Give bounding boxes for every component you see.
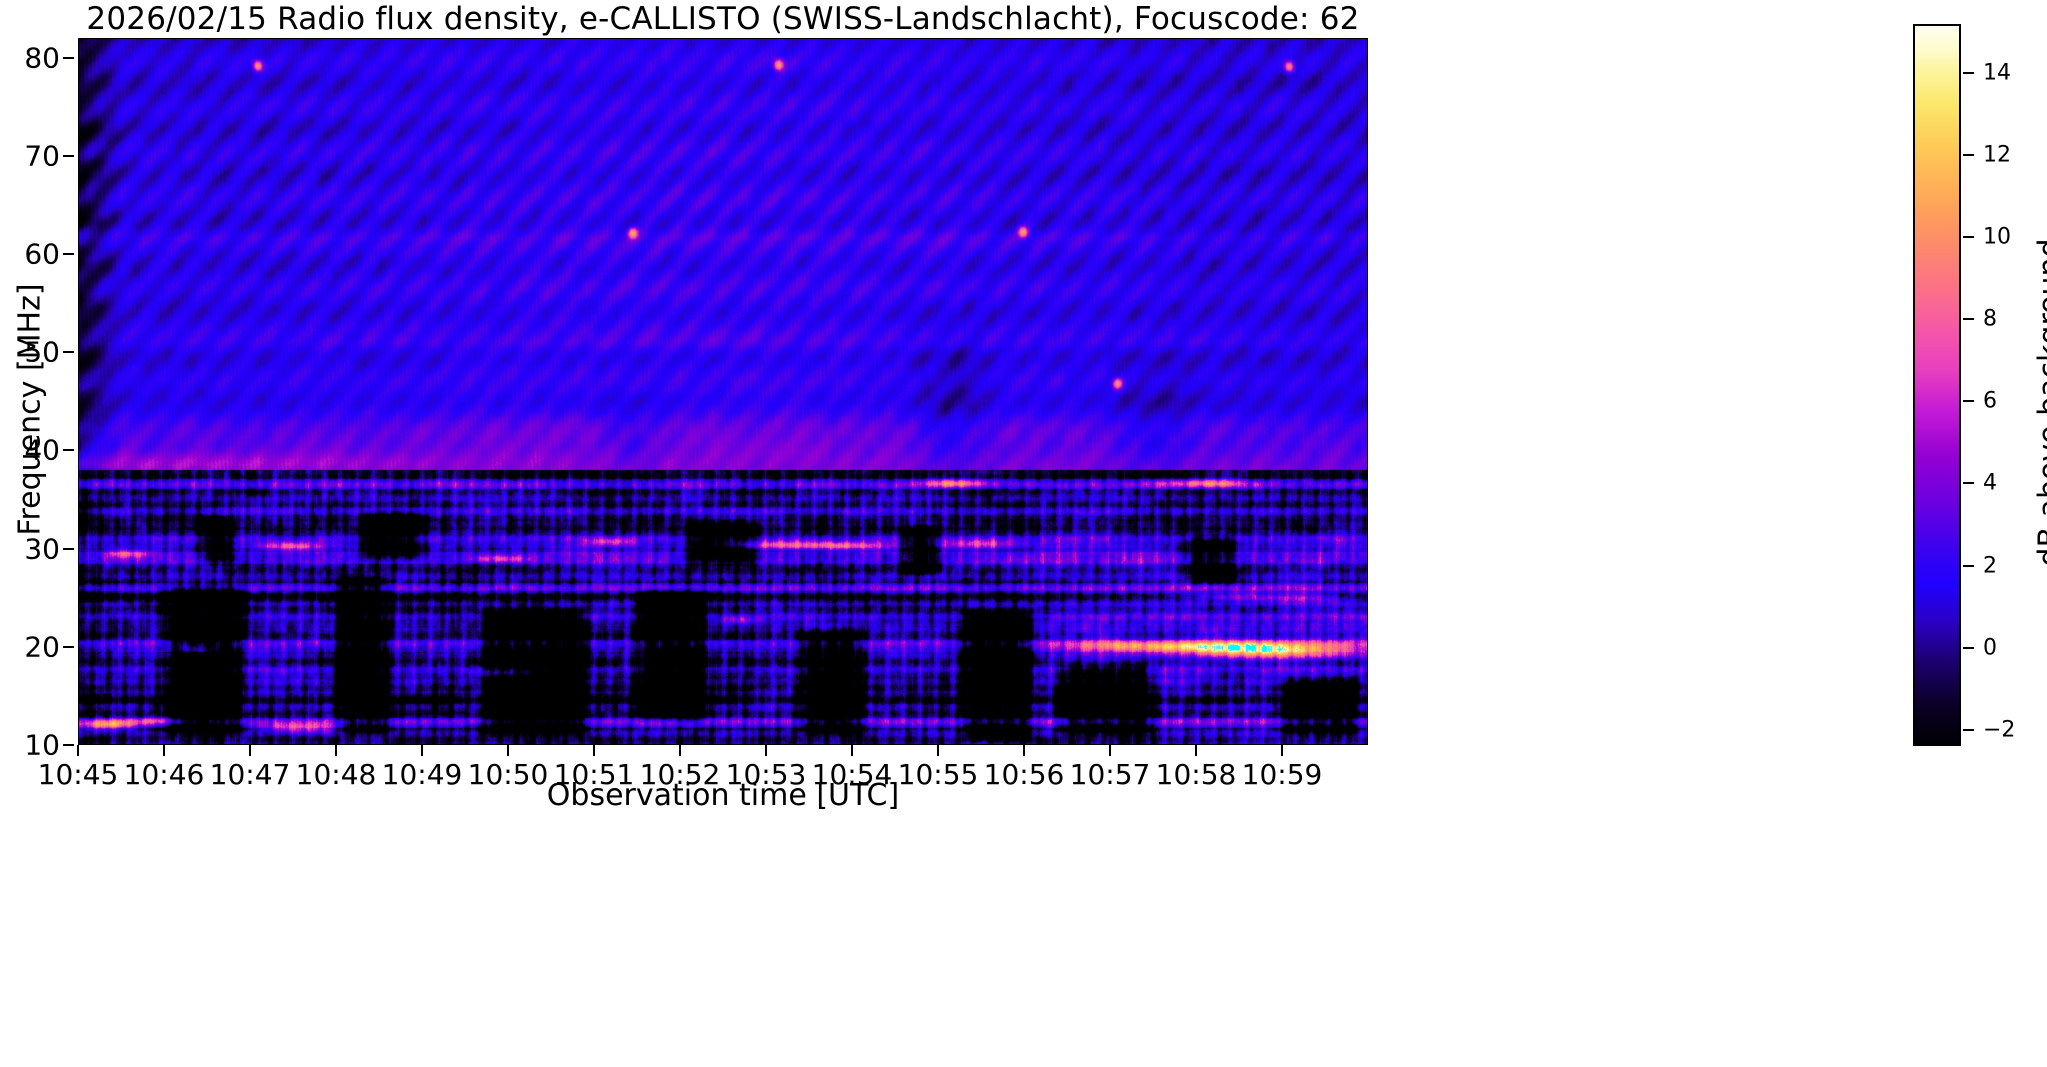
colorbar-tick-mark [1963,154,1974,156]
x-tick-mark [851,745,853,756]
x-tick-mark [163,745,165,756]
y-tick-label: 80 [24,41,60,74]
x-tick-mark [679,745,681,756]
x-tick-mark [1109,745,1111,756]
colorbar-label: dB above background [2033,53,2047,753]
colorbar-tick-label: 12 [1983,143,2011,168]
y-axis-label: Frequency [MHz] [13,90,48,730]
x-tick-mark [1281,745,1283,756]
colorbar-tick-mark [1963,400,1974,402]
colorbar-tick-mark [1963,318,1974,320]
x-tick-mark [335,745,337,756]
x-tick-mark [1023,745,1025,756]
colorbar-tick-mark [1963,236,1974,238]
y-tick-mark [63,449,74,451]
y-tick-mark [63,548,74,550]
page-title: 2026/02/15 Radio flux density, e-CALLIST… [78,2,1368,36]
y-tick-mark [63,646,74,648]
y-tick-mark [63,351,74,353]
colorbar-tick-label: 14 [1983,61,2011,86]
colorbar-tick-label: 2 [1983,553,1997,578]
colorbar-tick-label: 6 [1983,389,1997,414]
colorbar-gradient [1913,24,1961,746]
colorbar-tick-label: 0 [1983,635,1997,660]
x-tick-mark [421,745,423,756]
x-tick-mark [249,745,251,756]
colorbar-tick-mark [1963,565,1974,567]
colorbar-tick-label: 10 [1983,225,2011,250]
x-tick-mark [593,745,595,756]
spectrogram-axes [78,38,1368,745]
colorbar-tick-mark [1963,72,1974,74]
x-axis-label: Observation time [UTC] [78,778,1368,813]
x-tick-mark [765,745,767,756]
colorbar-tick-mark [1963,647,1974,649]
x-tick-mark [937,745,939,756]
x-tick-mark [1195,745,1197,756]
x-tick-mark [77,745,79,756]
colorbar-tick-label: −2 [1983,717,2015,742]
colorbar-tick-mark [1963,482,1974,484]
y-tick-mark [63,253,74,255]
y-tick-mark [63,155,74,157]
colorbar-tick-label: 8 [1983,307,1997,332]
y-tick-mark [63,57,74,59]
colorbar: −202468101214 [1913,24,1961,746]
x-tick-mark [507,745,509,756]
colorbar-tick-label: 4 [1983,471,1997,496]
spectrogram-image [79,39,1367,744]
colorbar-tick-mark [1963,729,1974,731]
